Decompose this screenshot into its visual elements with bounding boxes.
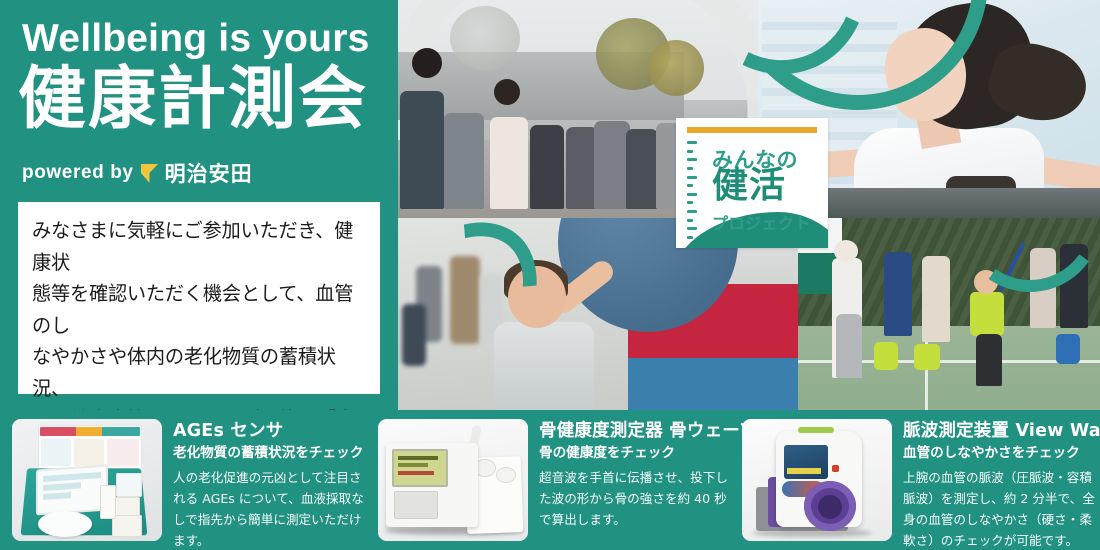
description-card: みなさまに気軽にご参加いただき、健康状 態等を確認いただく機会として、血管のし … [18, 202, 380, 394]
product-description: 超音波を手首に伝播させ、投下した波の形から骨の強さを約 40 秒で算出します。 [539, 467, 739, 530]
headline-english: Wellbeing is yours [22, 18, 369, 60]
badge-line-3: プロジェクト [712, 210, 811, 234]
product-description: 人の老化促進の元凶として注目される AGEs について、血液採取なしで指先から簡… [173, 467, 366, 550]
product-text-block: AGEs センサ 老化物質の蓄積状況をチェック 人の老化促進の元凶として注目され… [173, 419, 366, 550]
product-strip: AGEs センサ 老化物質の蓄積状況をチェック 人の老化促進の元凶として注目され… [0, 410, 1100, 550]
product-subtitle: 老化物質の蓄積状況をチェック [173, 443, 366, 463]
product-title: 骨健康度測定器 骨ウェーブ [539, 421, 739, 442]
poster-root: みんなの 健活 プロジェクト Wellbeing is yours 健康計測会 … [0, 0, 1100, 550]
brand-name: 明治安田 [165, 158, 253, 188]
product-card-ages-sensor[interactable]: AGEs センサ 老化物質の蓄積状況をチェック 人の老化促進の元凶として注目され… [0, 410, 366, 550]
product-text-block: 骨健康度測定器 骨ウェーブ 骨の健康度をチェック 超音波を手首に伝播させ、投下し… [539, 419, 739, 530]
headline-japanese: 健康計測会 [18, 62, 368, 138]
product-text-block: 脈波測定装置 View Wave 血管のしなやかさをチェック 上腕の血管の脈波（… [903, 419, 1099, 550]
meiji-yasuda-flag-icon [141, 164, 158, 183]
hero-left-panel: Wellbeing is yours 健康計測会 powered by 明治安田… [0, 0, 398, 410]
product-description: 上腕の血管の脈波（圧脈波・容積脈波）を測定し、約 2 分半で、全身の血管のしなや… [903, 467, 1099, 550]
badge-tick-marks-icon [687, 141, 697, 239]
product-card-view-wave[interactable]: 脈波測定装置 View Wave 血管のしなやかさをチェック 上腕の血管の脈波（… [734, 410, 1088, 550]
bone-wave-photo [378, 419, 528, 541]
product-subtitle: 骨の健康度をチェック [539, 443, 739, 463]
product-title: 脈波測定装置 View Wave [903, 421, 1099, 442]
badge-top-bar [687, 127, 817, 133]
product-subtitle: 血管のしなやかさをチェック [903, 443, 1099, 463]
product-title: AGEs センサ [173, 421, 366, 442]
photo-tennis-kids [798, 218, 1100, 410]
ages-sensor-photo [12, 419, 162, 541]
view-wave-photo [742, 419, 892, 541]
kenkatsu-project-logo: みんなの 健活 プロジェクト [676, 118, 828, 248]
powered-by-row: powered by 明治安田 [22, 158, 253, 188]
product-card-bone-wave[interactable]: 骨健康度測定器 骨ウェーブ 骨の健康度をチェック 超音波を手首に伝播させ、投下し… [366, 410, 734, 550]
powered-by-label: powered by [22, 162, 134, 184]
badge-line-2: 健活 [712, 166, 786, 206]
